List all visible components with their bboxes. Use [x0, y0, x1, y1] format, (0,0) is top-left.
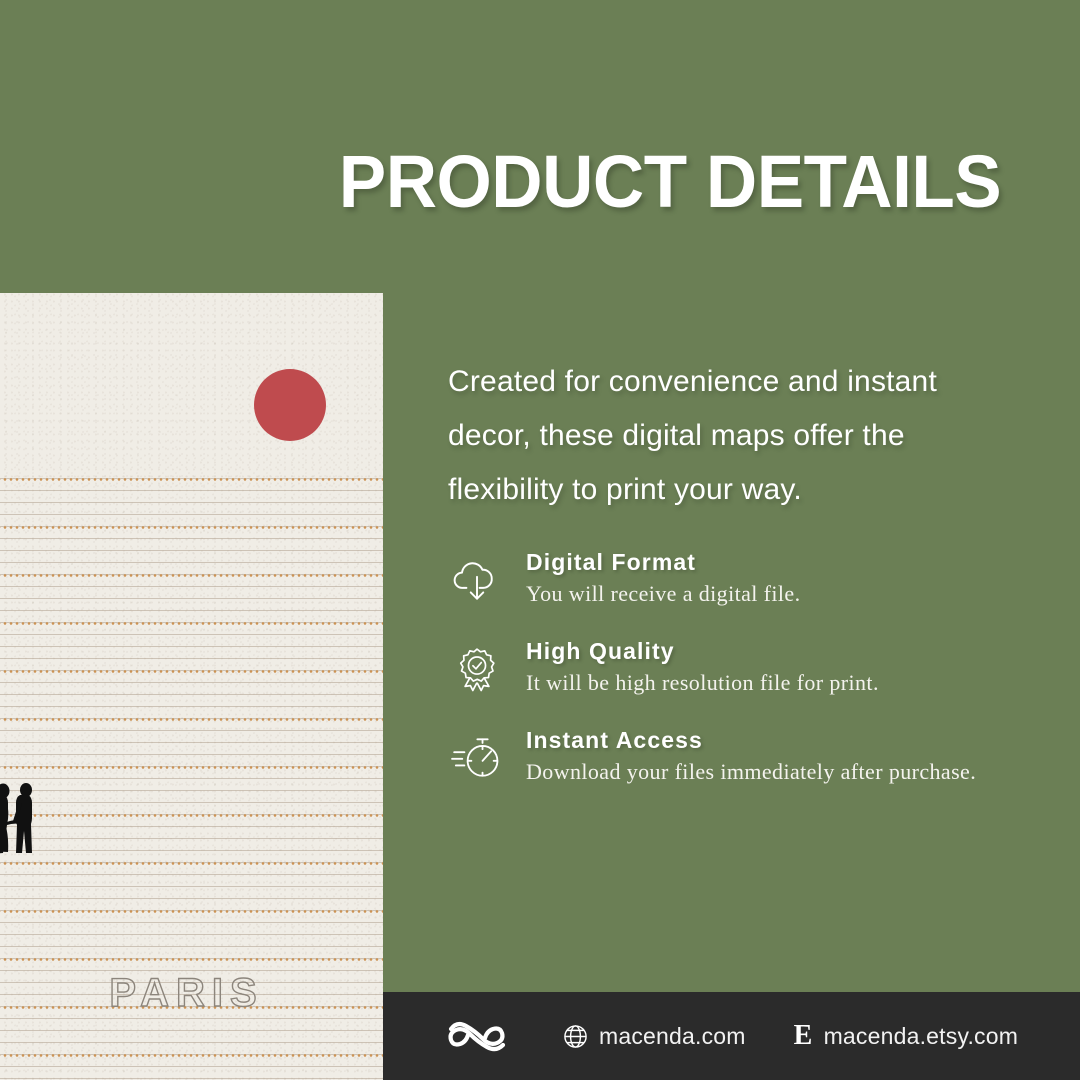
etsy-e-glyph: E [794, 1022, 813, 1050]
feature-description: You will receive a digital file. [526, 581, 1048, 607]
feature-description: It will be high resolution file for prin… [526, 670, 1048, 696]
page-title: PRODUCT DETAILS [315, 145, 1025, 219]
feature-title: Digital Format [526, 548, 1048, 576]
feature-title: High Quality [526, 637, 1048, 665]
macenda-infinity-logo [435, 1016, 519, 1056]
cloud-download-icon [448, 553, 506, 609]
feature-list: Digital Format You will receive a digita… [448, 548, 1048, 796]
feature-item-digital-format: Digital Format You will receive a digita… [448, 548, 1048, 618]
feature-item-instant-access: Instant Access Download your files immed… [448, 726, 1048, 796]
etsy-icon: E [794, 1022, 813, 1050]
stopwatch-speed-icon [448, 731, 506, 787]
content-column: PRODUCT DETAILS Created for convenience … [0, 0, 1080, 1080]
feature-description: Download your files immediately after pu… [526, 759, 1048, 785]
feature-title: Instant Access [526, 726, 1048, 754]
globe-icon [563, 1024, 588, 1049]
footer-bar: macenda.com E macenda.etsy.com [383, 992, 1080, 1080]
footer-link-website[interactable]: macenda.com [563, 1023, 746, 1050]
feature-item-high-quality: High Quality It will be high resolution … [448, 637, 1048, 707]
footer-link-label: macenda.etsy.com [824, 1023, 1019, 1050]
footer-link-etsy[interactable]: E macenda.etsy.com [794, 1022, 1018, 1050]
quality-badge-icon [448, 642, 506, 698]
lead-paragraph: Created for convenience and instant deco… [448, 355, 1018, 517]
poster-canvas: PARIS PRODUCT DETAILS Created for conven… [0, 0, 1080, 1080]
footer-link-label: macenda.com [599, 1023, 746, 1050]
